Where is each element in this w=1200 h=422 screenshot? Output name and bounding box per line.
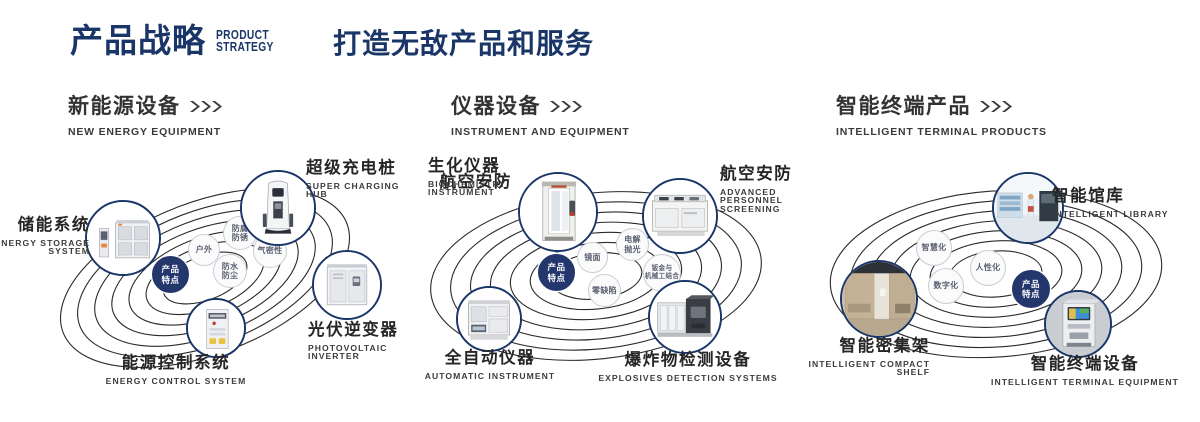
- section-title-cn: 新能源设备: [68, 96, 181, 117]
- section-title-en: INSTRUMENT AND EQUIPMENT: [451, 126, 630, 138]
- section-title-cn: 智能终端产品: [836, 96, 971, 117]
- feature-bubble: 零缺陷: [588, 274, 621, 307]
- triple-chevron-right-icon: [980, 100, 1014, 113]
- feature-bubble: 防水 防尘: [213, 254, 247, 288]
- label-biochemistry-instrument: 生化仪器 BIOCHEMISTRY INSTRUMENT: [428, 158, 506, 197]
- node-automatic-instrument[interactable]: [456, 286, 522, 352]
- cluster-instrument: 产品特点 镜面 电解 抛光 钣金与 机械工结合 零缺陷: [390, 150, 810, 400]
- label-automatic-instrument: 全自动仪器 AUTOMATIC INSTRUMENT: [412, 350, 568, 380]
- page-subtitle: 打造无敌产品和服务: [333, 30, 594, 58]
- triple-chevron-right-icon: [190, 100, 224, 113]
- label-energy-control-system: 能源控制系统 ENERGY CONTROL SYSTEM: [86, 355, 266, 385]
- section-header-new-energy: 新能源设备 NEW ENERGY EQUIPMENT: [68, 96, 224, 138]
- feature-core-bubble: 产品特点: [1012, 270, 1050, 308]
- label-energy-storage-system: 储能系统 ENERGY STORAGE SYSTEM: [0, 217, 90, 256]
- node-intelligent-compact-shelf[interactable]: [840, 260, 918, 338]
- section-header-instrument: 仪器设备 INSTRUMENT AND EQUIPMENT: [451, 96, 630, 138]
- battery-cabinet-photo: [87, 202, 159, 274]
- core-label: 产品特点: [547, 262, 565, 282]
- node-advanced-screening[interactable]: [642, 178, 718, 254]
- compact-shelf-photo: [842, 262, 916, 336]
- section-header-intelligent: 智能终端产品 INTELLIGENT TERMINAL PRODUCTS: [836, 96, 1047, 138]
- kiosk-terminal-photo: [1046, 292, 1110, 356]
- section-title-cn: 仪器设备: [451, 96, 541, 117]
- security-scanner-photo: [520, 174, 596, 250]
- cluster-intelligent: 智慧化 数字化 人性化 产品特点: [790, 150, 1200, 400]
- feature-bubble: 人性化: [970, 250, 1006, 286]
- triple-chevron-right-icon: [550, 100, 584, 113]
- charging-pile-photo: [242, 172, 314, 244]
- feature-bubble: 智慧化: [916, 230, 952, 266]
- node-intelligent-terminal-equipment[interactable]: [1044, 290, 1112, 358]
- node-biochemistry-instrument[interactable]: [518, 172, 598, 252]
- label-explosives-detection: 爆炸物检测设备 EXPLOSIVES DETECTION SYSTEMS: [598, 352, 778, 382]
- product-strategy-infographic: 产品战略 PRODUCT STRATEGY 打造无敌产品和服务 新能源设备 NE…: [0, 0, 1200, 422]
- feature-core-bubble: 产品特点: [538, 254, 575, 291]
- node-explosives-detection[interactable]: [648, 280, 722, 354]
- control-cabinet-photo: [188, 300, 244, 356]
- node-energy-control-system[interactable]: [186, 298, 246, 358]
- feature-bubble: 数字化: [928, 268, 964, 304]
- lab-analyzer-photo: [644, 180, 716, 252]
- page-header: 产品战略 PRODUCT STRATEGY: [70, 24, 286, 57]
- node-super-charging-hub[interactable]: [240, 170, 316, 246]
- page-title-english: PRODUCT STRATEGY: [216, 29, 274, 58]
- label-intelligent-terminal-equipment: 智能终端设备 INTELLIGENT TERMINAL EQUIPMENT: [990, 356, 1180, 386]
- node-photovoltaic-inverter[interactable]: [312, 250, 382, 320]
- explosive-detector-photo: [650, 282, 720, 352]
- automatic-analyzer-photo: [458, 288, 520, 350]
- core-label: 产品特点: [161, 264, 179, 284]
- inverter-cabinet-photo: [314, 252, 380, 318]
- label-intelligent-compact-shelf: 智能密集架 INTELLIGENT COMPACT SHELF: [780, 338, 930, 377]
- label-intelligent-library: 智能馆库 INTELLIGENT LIBRARY: [1052, 188, 1169, 218]
- section-title-en: NEW ENERGY EQUIPMENT: [68, 126, 224, 138]
- section-title-en: INTELLIGENT TERMINAL PRODUCTS: [836, 126, 1047, 138]
- page-title: 产品战略: [70, 24, 206, 57]
- cluster-new-energy: 产品特点 户外 防腐 防锈 防水 防尘 气密性: [0, 150, 420, 400]
- node-energy-storage-system[interactable]: [85, 200, 161, 276]
- core-label: 产品特点: [1022, 279, 1040, 299]
